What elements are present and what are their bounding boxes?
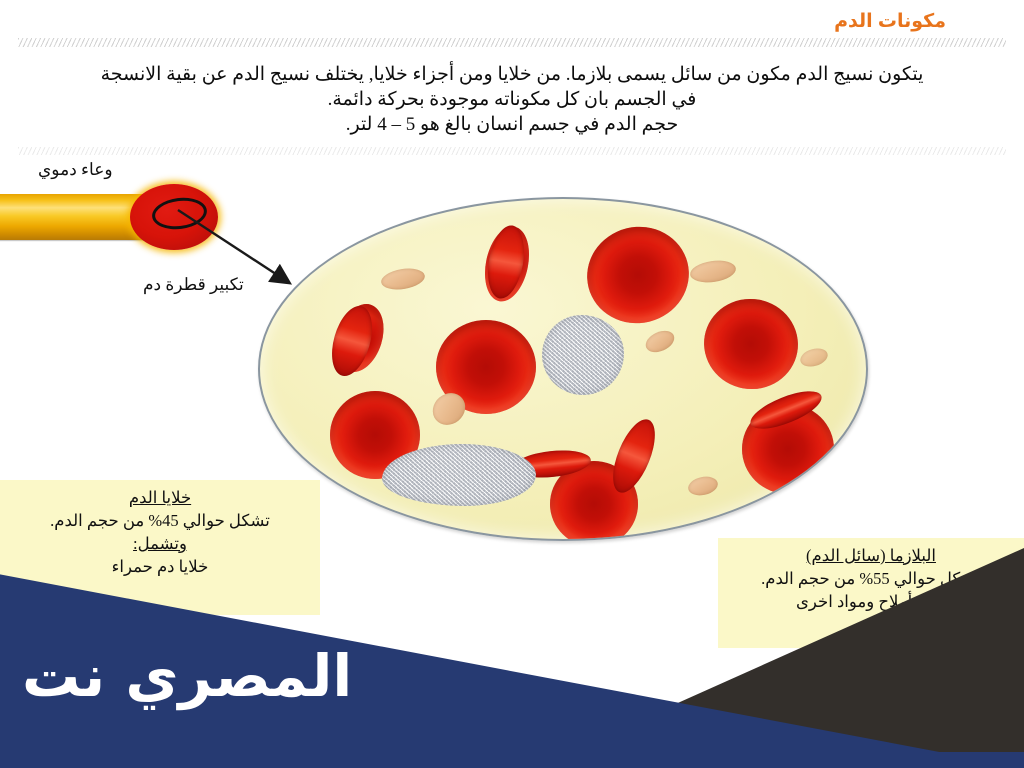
header-divider	[18, 38, 1006, 47]
white-blood-cell	[382, 444, 536, 506]
magnified-drop-label: تكبير قطرة دم	[143, 275, 244, 295]
info-left-heading: خلايا الدم	[10, 486, 310, 509]
page-title: مكونات الدم	[834, 10, 946, 33]
platelet	[642, 327, 677, 357]
intro-line-3: حجم الدم في جسم انسان بالغ هو 5 – 4 لتر.	[60, 112, 964, 137]
platelet	[380, 266, 427, 293]
info-left-line-1: تشكل حوالي 45% من حجم الدم.	[10, 509, 310, 532]
section-divider	[18, 147, 1006, 155]
white-blood-cell	[542, 315, 624, 395]
site-watermark: المصري نت	[22, 645, 352, 707]
blood-sample-oval	[258, 197, 868, 541]
intro-line-1: يتكون نسيج الدم مكون من سائل يسمى بلازما…	[60, 62, 964, 87]
platelet	[689, 258, 737, 285]
platelet	[686, 474, 719, 498]
intro-paragraph: يتكون نسيج الدم مكون من سائل يسمى بلازما…	[60, 62, 964, 137]
info-right-heading: البلازما (سائل الدم)	[728, 544, 1014, 567]
blood-vessel-diagram: وعاء دموي تكبير قطرة دم	[0, 160, 330, 310]
platelet	[798, 345, 830, 369]
slide-canvas: مكونات الدم يتكون نسيج الدم مكون من سائل…	[0, 0, 1024, 768]
red-blood-cell-edge	[605, 414, 664, 498]
info-left-line-3: خلايا دم حمراء	[10, 555, 310, 578]
red-blood-cell	[697, 292, 805, 397]
vessel-label: وعاء دموي	[38, 160, 113, 180]
info-left-line-2: وتشمل:	[10, 532, 310, 555]
intro-line-2: في الجسم بان كل مكوناته موجودة بحركة دائ…	[60, 87, 964, 112]
footer-blue-strip	[0, 752, 1024, 768]
